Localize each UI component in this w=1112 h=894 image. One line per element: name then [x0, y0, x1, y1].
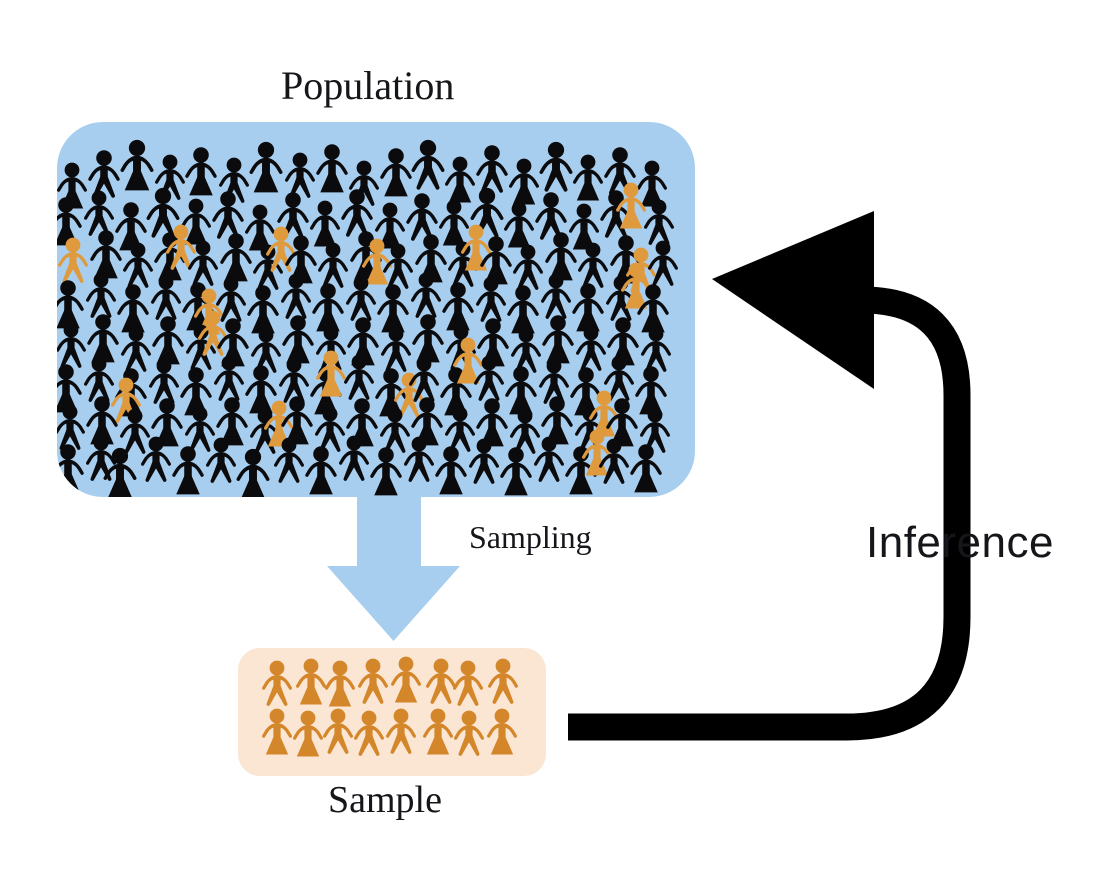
sample-label: Sample: [328, 781, 442, 819]
population-label: Population: [281, 66, 454, 106]
diagram-root: Population Sampling Sample Inference: [0, 0, 1112, 894]
sampling-arrow: [327, 497, 460, 641]
inference-arrow-head: [712, 211, 874, 389]
inference-label: Inference: [866, 521, 1054, 565]
sampling-label: Sampling: [469, 521, 592, 553]
diagram-canvas: [0, 0, 1112, 894]
